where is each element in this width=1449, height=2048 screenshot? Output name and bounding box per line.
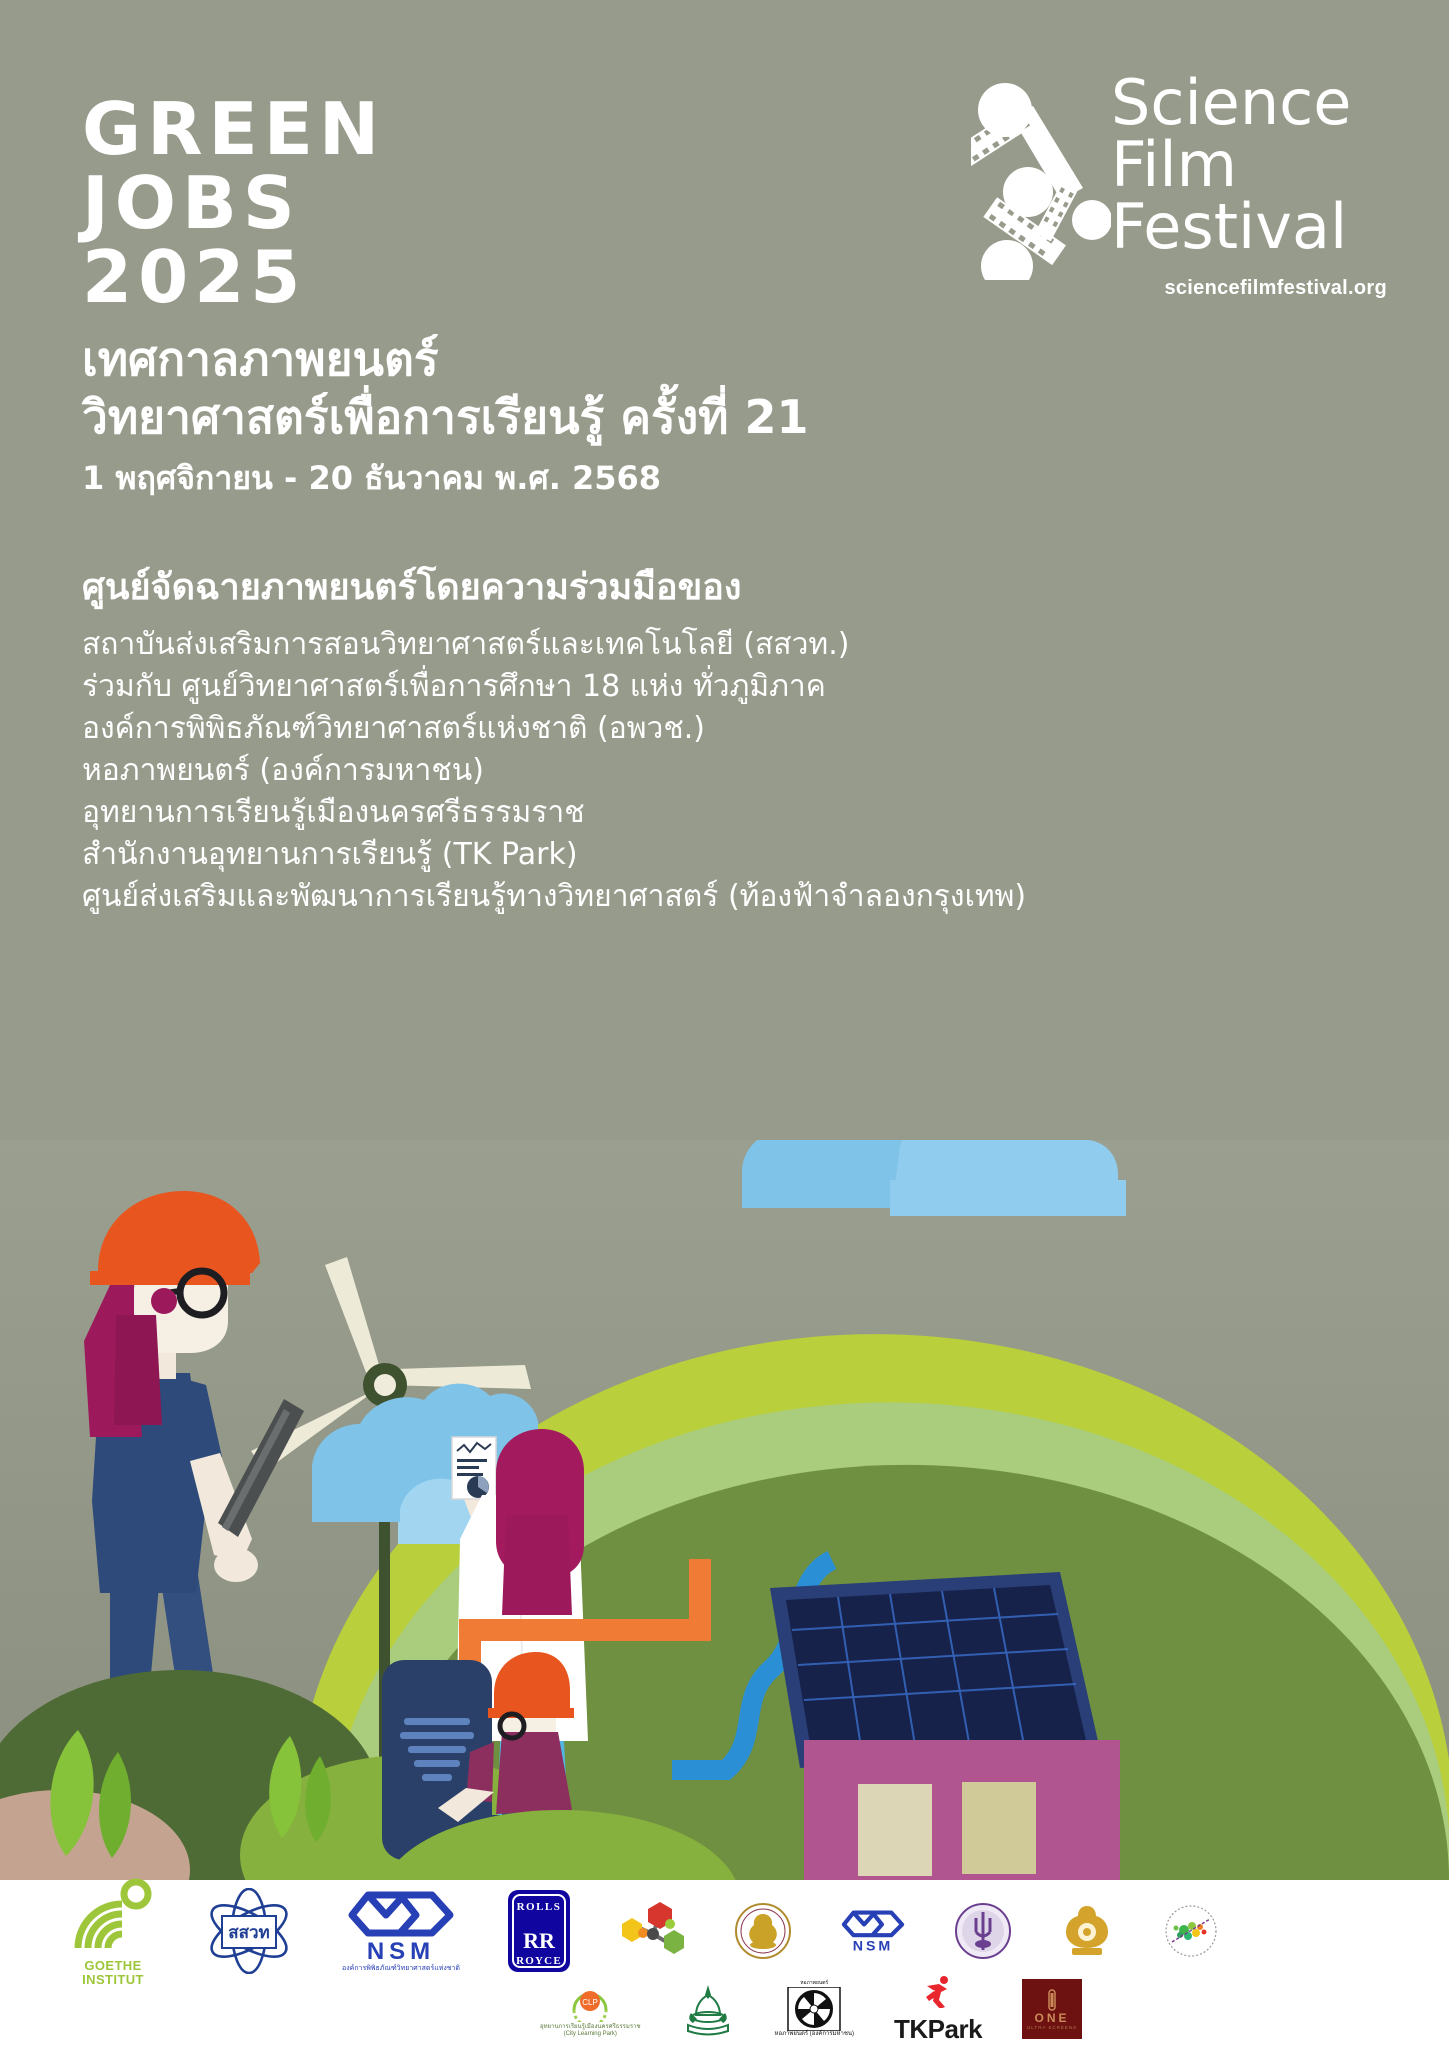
goethe-label: GOETHE INSTITUT (82, 1959, 144, 1987)
clp-sublabel: อุทยานการเรียนรู้เมืองนครศรีธรรมราช (Cit… (540, 2024, 641, 2038)
headline-line-2: JOBS (82, 166, 385, 240)
festival-url[interactable]: sciencefilmfestival.org (1164, 277, 1387, 300)
sponsor-nsm-secondary[interactable]: NSM (838, 1902, 908, 1960)
poster-root: GREEN JOBS 2025 (0, 0, 1449, 2048)
sponsor-goethe-institut[interactable]: GOETHE INSTITUT (70, 1876, 156, 1987)
molecule-film-strip-icon (971, 80, 1111, 280)
nsm-hexagon-icon: NSM (838, 1902, 908, 1960)
sponsor-film-archive[interactable]: หอภาพยนตร์ หอภาพยนตร์ (องค์การมหาชน) (775, 1980, 854, 2038)
film-archive-label: หอภาพยนตร์ (องค์การมหาชน) (775, 2031, 854, 2038)
sponsor-gold-seal[interactable] (734, 1902, 792, 1960)
headline-line-3: 2025 (82, 240, 385, 314)
solar-panel-icon (770, 1572, 1100, 1768)
sponsor-nakhon-emblem[interactable] (681, 1981, 735, 2037)
sponsor-ipst[interactable]: สสวท (202, 1888, 296, 1974)
partner-item: องค์การพิพิธภัณฑ์วิทยาศาสตร์แห่งชาติ (อพ… (82, 708, 1202, 750)
sponsor-purple-trident-seal[interactable] (954, 1902, 1012, 1960)
page-title: GREEN JOBS 2025 (82, 92, 385, 314)
svg-text:ROYCE: ROYCE (516, 1955, 562, 1967)
partner-item: สำนักงานอุทยานการเรียนรู้ (TK Park) (82, 834, 1202, 876)
molecule-hexagons-icon (618, 1900, 688, 1962)
sponsor-gold-throne-emblem[interactable] (1058, 1902, 1116, 1960)
partner-item: สถาบันส่งเสริมการสอนวิทยาศาสตร์และเทคโนโ… (82, 624, 1202, 666)
headline-line-1: GREEN (82, 92, 385, 166)
one-label: ONE (1035, 2012, 1070, 2024)
purple-trident-seal-icon (954, 1902, 1012, 1960)
one-ultra-screens-icon: ONE ULTRA SCREENS (1022, 1979, 1082, 2039)
svg-text:NSM: NSM (367, 1938, 435, 1963)
nsm-sublabel: องค์การพิพิธภัณฑ์วิทยาศาสตร์แห่งชาติ (342, 1965, 460, 1973)
one-sublabel: ULTRA SCREENS (1027, 2025, 1077, 2031)
house-with-solar-panel (770, 1572, 1120, 1880)
science-film-festival-logo: Science Film Festival sciencefilmfestiva… (971, 72, 1391, 302)
tkpark-runner-icon (921, 1974, 955, 2008)
clp-circle-icon: CLP (564, 1980, 616, 2022)
gold-throne-emblem-icon (1058, 1902, 1116, 1960)
festival-dates: 1 พฤศจิกายน - 20 ธันวาคม พ.ศ. 2568 (82, 456, 1202, 500)
thai-title-line-2: วิทยาศาสตร์เพื่อการเรียนรู้ ครั้งที่ 21 (82, 388, 1202, 446)
sponsor-rolls-royce[interactable]: ROLLS RR ROYCE (506, 1888, 572, 1974)
one-pillar-icon (1045, 1988, 1059, 2012)
sponsor-nsm[interactable]: NSM องค์การพิพิธภัณฑ์วิทยาศาสตร์แห่งชาติ (342, 1889, 460, 1973)
thai-title-line-1: เทศกาลภาพยนตร์ (82, 330, 1202, 388)
gold-seal-icon (734, 1902, 792, 1960)
nsm-hexagon-icon: NSM (342, 1889, 460, 1963)
festival-wordmark: Science Film Festival (1111, 72, 1351, 258)
sponsor-dotted-circle-emblem[interactable] (1162, 1902, 1220, 1960)
sponsor-row-secondary: CLP อุทยานการเรียนรู้เมืองนครศรีธรรมราช … (540, 1974, 1082, 2044)
svg-text:ROLLS: ROLLS (517, 1901, 562, 1913)
svg-text:สสวท: สสวท (228, 1923, 270, 1943)
svg-text:NSM: NSM (853, 1939, 894, 1955)
sponsor-one-ultra-screens[interactable]: ONE ULTRA SCREENS (1022, 1979, 1082, 2039)
sponsor-molecule-emblem[interactable] (618, 1900, 688, 1962)
svg-text:CLP: CLP (582, 1998, 598, 2007)
sponsor-logo-bar: GOETHE INSTITUT สสวท (0, 1880, 1449, 2048)
rolls-royce-badge-icon: ROLLS RR ROYCE (506, 1888, 572, 1974)
festival-word-festival: Festival (1111, 196, 1351, 258)
partners-heading: ศูนย์จัดฉายภาพยนตร์โดยความร่วมมือของ (82, 564, 1202, 612)
sponsor-tk-park[interactable]: TKPark (894, 1974, 982, 2045)
tkpark-label: TKPark (894, 2014, 982, 2045)
festival-word-science: Science (1111, 72, 1351, 134)
partner-item: อุทยานการเรียนรู้เมืองนครศรีธรรมราช (82, 792, 1202, 834)
sponsor-row-primary: GOETHE INSTITUT สสวท (70, 1888, 1220, 1974)
svg-text:RR: RR (523, 1928, 556, 1953)
thai-text-block: เทศกาลภาพยนตร์ วิทยาศาสตร์เพื่อการเรียนร… (82, 330, 1202, 918)
green-city-emblem-icon (681, 1981, 735, 2037)
film-reel-icon (786, 1987, 842, 2031)
dotted-circle-emblem-icon (1162, 1902, 1220, 1960)
sponsor-city-learning-park[interactable]: CLP อุทยานการเรียนรู้เมืองนครศรีธรรมราช … (540, 1980, 641, 2038)
illustration-svg (0, 1140, 1449, 1880)
papercraft-illustration (0, 1140, 1449, 1880)
goethe-spiral-icon (70, 1876, 156, 1956)
festival-word-film: Film (1111, 134, 1351, 196)
partners-list: สถาบันส่งเสริมการสอนวิทยาศาสตร์และเทคโนโ… (82, 624, 1202, 918)
partner-item: ร่วมกับ ศูนย์วิทยาศาสตร์เพื่อการศึกษา 18… (82, 666, 1202, 708)
partner-item: หอภาพยนตร์ (องค์การมหาชน) (82, 750, 1202, 792)
atom-book-icon: สสวท (202, 1888, 296, 1974)
film-archive-top-label: หอภาพยนตร์ (800, 1980, 828, 1986)
partner-item: ศูนย์ส่งเสริมและพัฒนาการเรียนรู้ทางวิทยา… (82, 876, 1202, 918)
